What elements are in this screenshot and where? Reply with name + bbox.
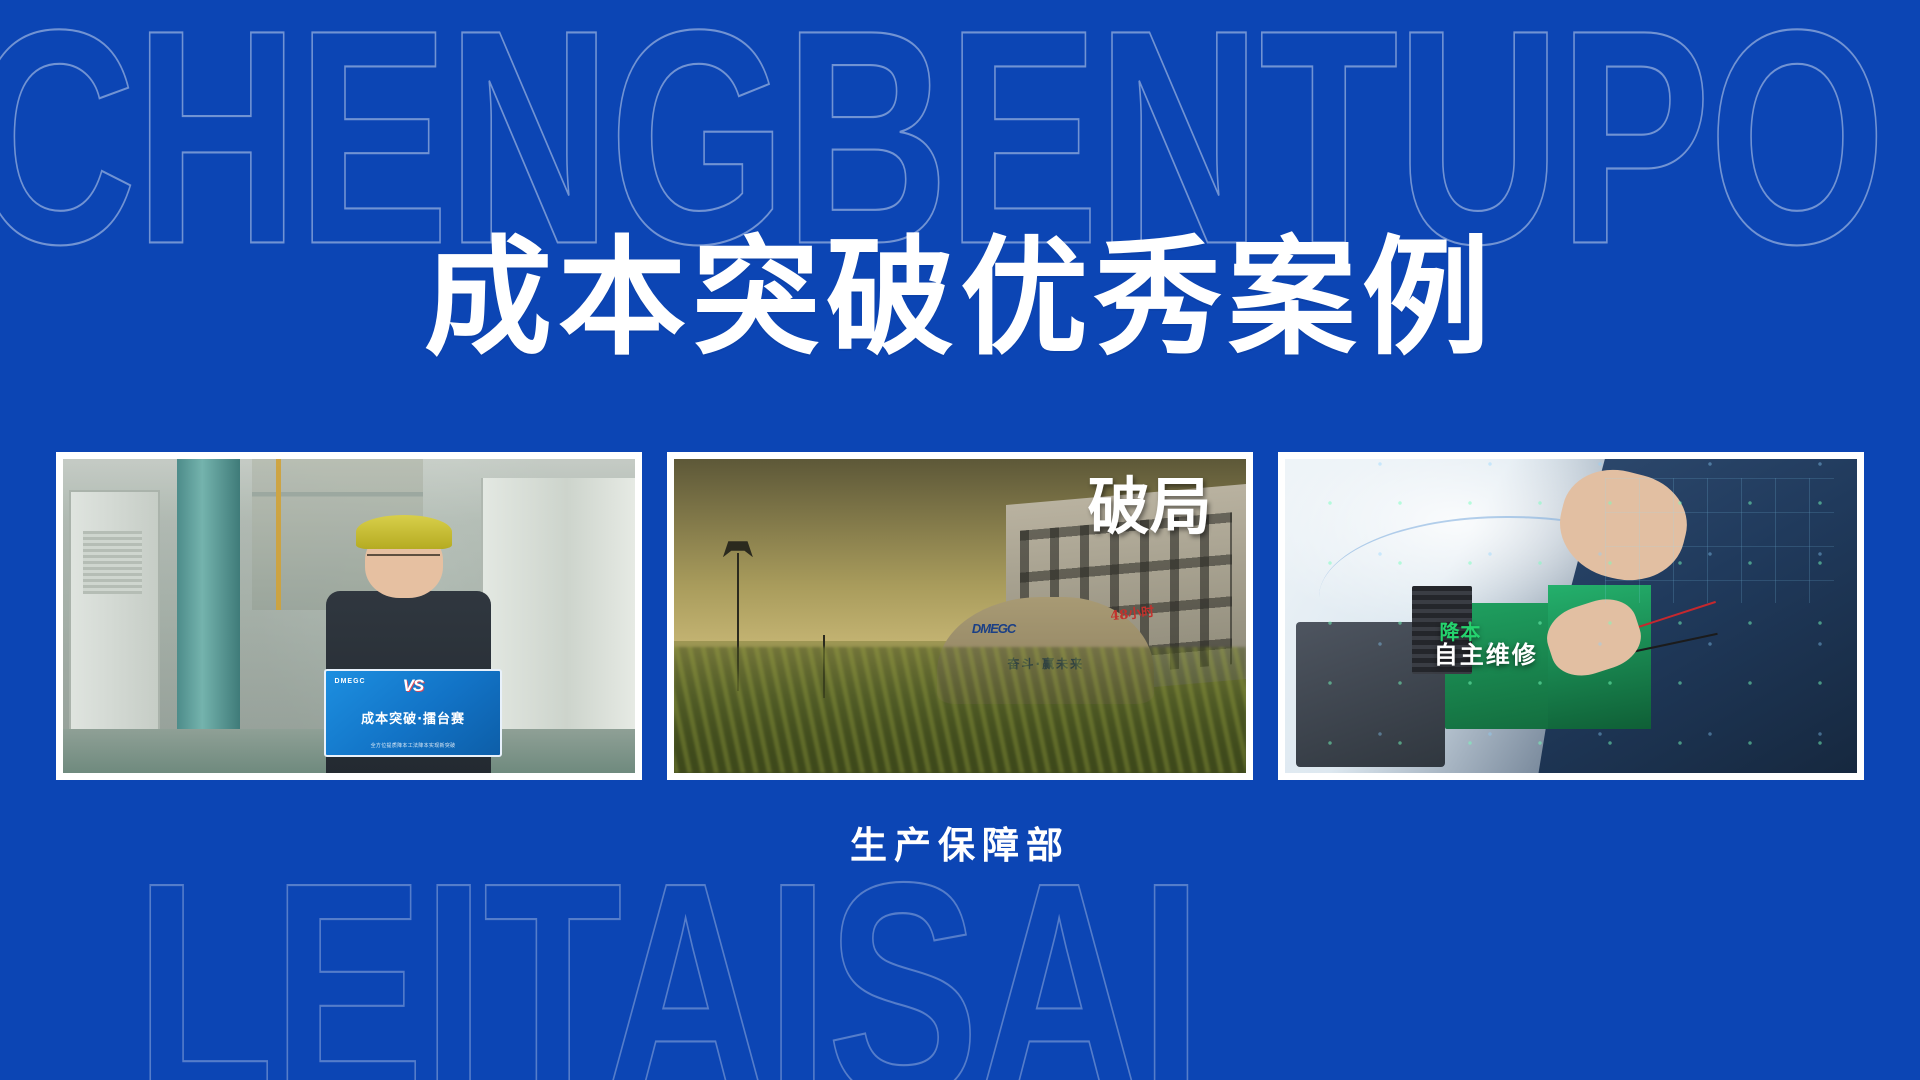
stone-logo: DMEGC [972,621,1015,636]
repair-label: 自主维修 [1434,635,1538,670]
placard: DMEGC VS 成本突破·擂台赛 全方位提质降本工法降本实现新突破 [324,669,502,758]
decor-tech-dots [1285,459,1857,773]
photo-entrance-stone: DMEGC 奋斗·赢未来 破局 48小时 [674,459,1246,773]
decor-cabinet-left [69,490,161,735]
photo-frame-worker[interactable]: DMEGC VS 成本突破·擂台赛 全方位提质降本工法降本实现新突破 [56,452,642,780]
page-title: 成本突破优秀案例 [0,232,1920,366]
photo-worker-placard: DMEGC VS 成本突破·擂台赛 全方位提质降本工法降本实现新突破 [63,459,635,773]
worker-figure: DMEGC VS 成本突破·擂台赛 全方位提质降本工法降本实现新突破 [315,512,544,773]
photo-self-repair: 降本 自主维修 [1285,459,1857,773]
placard-subline: 全方位提质降本工法降本实现新突破 [326,742,500,749]
worker-cap [356,515,452,549]
watermark-bottom-text: LEITAISAI [135,837,1201,1080]
decor-grass [674,647,1246,773]
decor-pillar [177,459,240,773]
photo-gallery: DMEGC VS 成本突破·擂台赛 全方位提质降本工法降本实现新突破 DMEGC… [56,452,1864,780]
photo-frame-entrance[interactable]: DMEGC 奋斗·赢未来 破局 48小时 [667,452,1253,780]
calligraphy-overlay: 破局 [1088,478,1212,535]
glasses-icon [367,554,440,567]
placard-headline: 成本突破·擂台赛 [326,708,500,727]
presentation-slide: CHENGBENTUPO 成本突破优秀案例 DMEGC VS [0,0,1920,1080]
placard-vs-logo: VS [403,676,424,696]
photo-frame-repair[interactable]: 降本 自主维修 [1278,452,1864,780]
placard-brand: DMEGC [335,678,366,685]
